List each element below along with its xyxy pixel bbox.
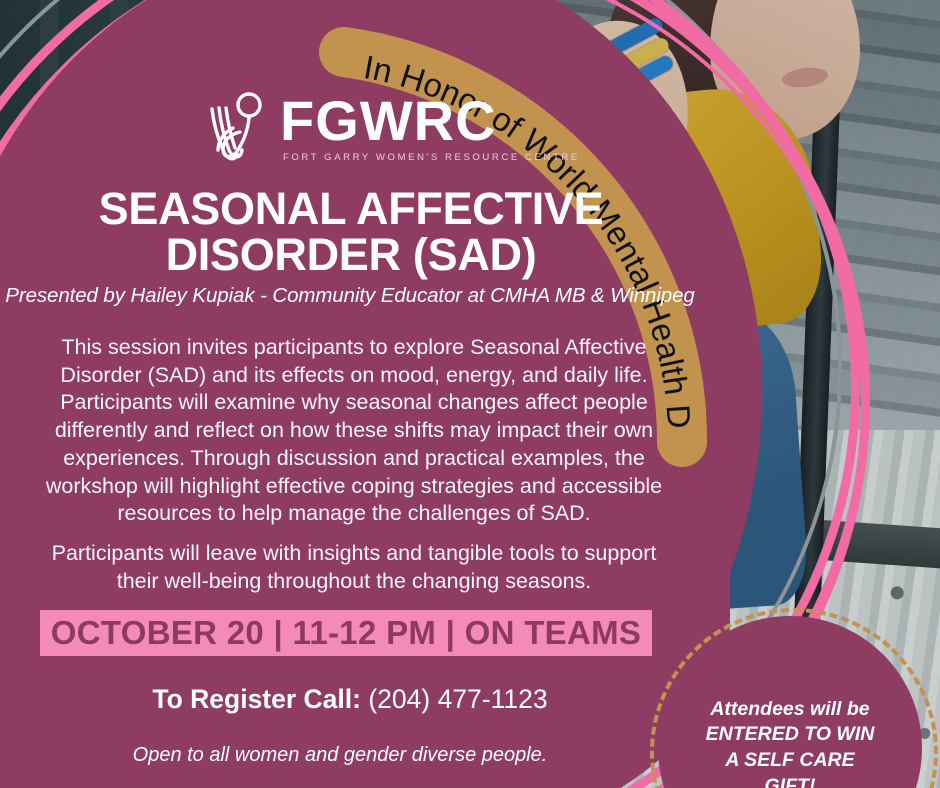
presenter-line: Presented by Hailey Kupiak - Community E… xyxy=(0,284,700,308)
register-phone[interactable]: (204) 477-1123 xyxy=(368,684,547,714)
logo-text-block: FGWRC FORT GARRY WOMEN'S RESOURCE CENTRE xyxy=(280,95,580,163)
fgwrc-logo: FGWRC FORT GARRY WOMEN'S RESOURCE CENTRE xyxy=(204,92,580,166)
logo-acronym: FGWRC xyxy=(280,95,580,147)
session-takeaway: Participants will leave with insights an… xyxy=(34,540,674,595)
event-details-banner: OCTOBER 20 | 11-12 PM | ON TEAMS xyxy=(40,610,652,656)
logo-full-name: FORT GARRY WOMEN'S RESOURCE CENTRE xyxy=(280,152,580,163)
event-details-text: OCTOBER 20 | 11-12 PM | ON TEAMS xyxy=(51,614,641,652)
prize-line-1: Attendees will be xyxy=(706,697,875,723)
prize-line-3: A SELF CARE xyxy=(706,748,875,774)
register-label: To Register Call: xyxy=(152,684,361,714)
session-description: This session invites participants to exp… xyxy=(24,334,684,528)
headline-line-2: DISORDER (SAD) xyxy=(0,232,702,278)
register-line: To Register Call: (204) 477-1123 xyxy=(60,684,640,715)
prize-line-2: ENTERED TO WIN xyxy=(706,722,875,748)
prize-text: Attendees will be ENTERED TO WIN A SELF … xyxy=(692,697,889,788)
page-title: SEASONAL AFFECTIVE DISORDER (SAD) xyxy=(0,186,702,279)
open-to-note: Open to all women and gender diverse peo… xyxy=(60,744,620,767)
woven-knot-logo-icon xyxy=(204,92,266,166)
prize-line-4: GIFT! xyxy=(706,774,875,788)
headline-line-1: SEASONAL AFFECTIVE xyxy=(99,183,604,234)
poster-canvas: In Honor of World Mental Health Day FGWR… xyxy=(0,0,940,788)
